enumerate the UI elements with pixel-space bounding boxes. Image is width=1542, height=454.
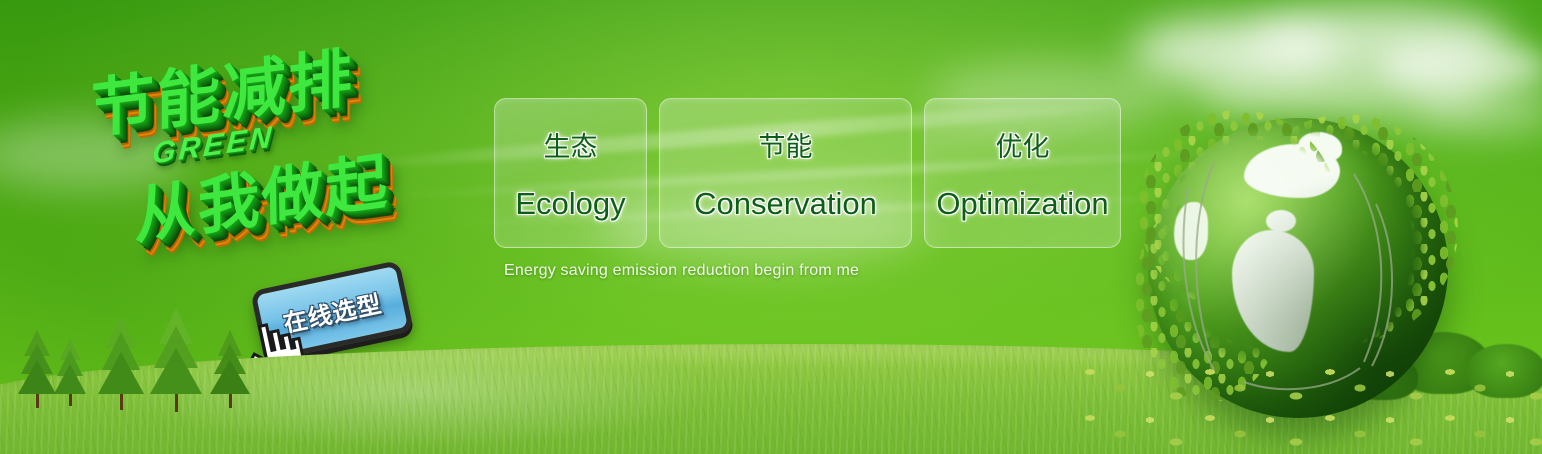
feature-card-en-label: Ecology (515, 186, 625, 222)
vine-strands-icon (1148, 118, 1448, 418)
feature-card-en-label: Conservation (694, 186, 877, 222)
feature-card-conservation[interactable]: 节能 Conservation (659, 98, 912, 248)
feature-card-list: 生态 Ecology 节能 Conservation 优化 Optimizati… (494, 98, 1121, 248)
feature-card-cn-label: 节能 (759, 125, 813, 164)
cloud-icon (1380, 40, 1542, 92)
pine-tree-icon (54, 338, 86, 406)
eco-globe (1148, 118, 1448, 418)
cloud-icon (1250, 4, 1510, 76)
cloud-icon (1190, 60, 1490, 120)
pine-tree-icon (18, 330, 56, 408)
eco-banner: 节能减排 GREEN 从我做起 生态 Ecology 节能 Conservati… (0, 0, 1542, 454)
feature-card-optimization[interactable]: 优化 Optimization (924, 98, 1121, 248)
feature-card-en-label: Optimization (936, 186, 1108, 222)
tagline: Energy saving emission reduction begin f… (504, 262, 859, 280)
cloud-icon (1130, 18, 1340, 84)
feature-card-cn-label: 生态 (544, 125, 598, 164)
bush-icon (1466, 344, 1542, 398)
pine-tree-icon (150, 308, 202, 412)
headline-3d: 节能减排 GREEN 从我做起 (87, 17, 506, 281)
feature-card-cn-label: 优化 (996, 125, 1050, 164)
pine-tree-icon (210, 330, 250, 408)
pine-tree-icon (98, 316, 144, 410)
feature-card-ecology[interactable]: 生态 Ecology (494, 98, 647, 248)
online-selection-button-group[interactable]: 在线选型 (250, 260, 414, 362)
